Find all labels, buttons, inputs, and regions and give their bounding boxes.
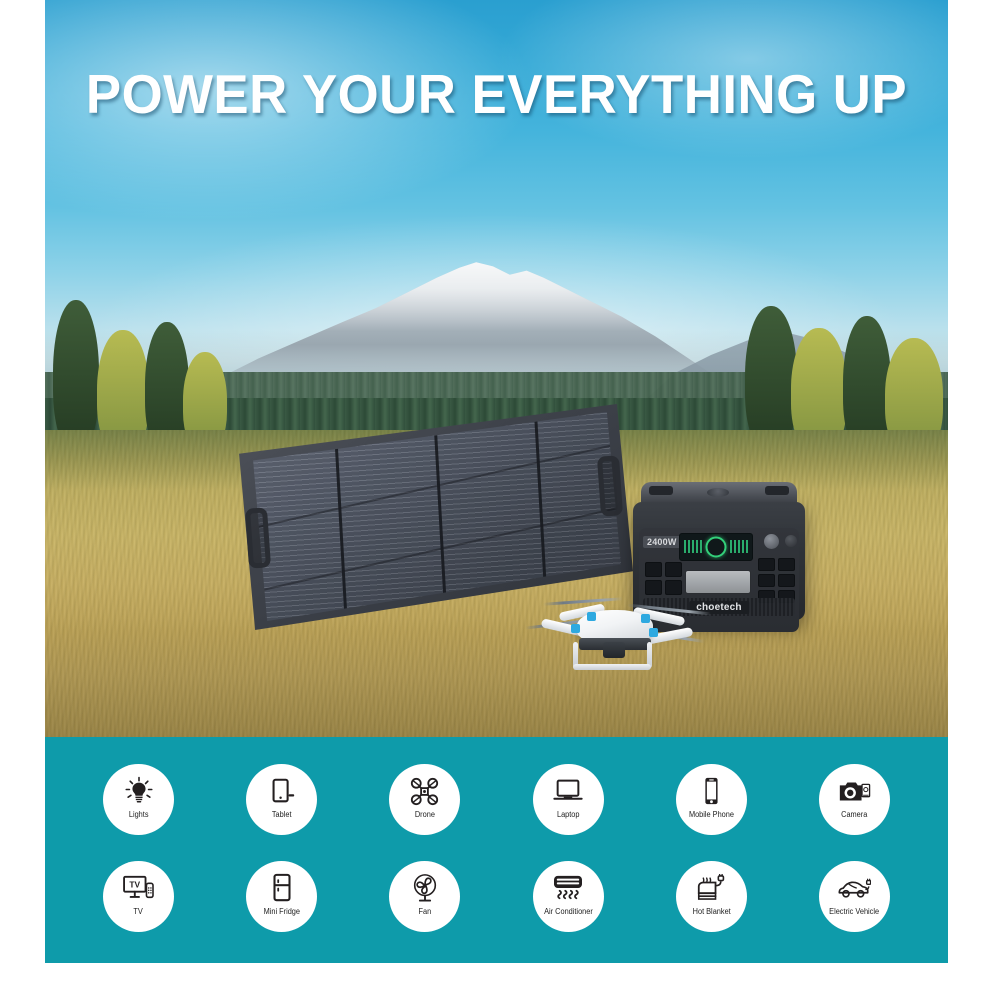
- station-mode-button[interactable]: [785, 535, 797, 547]
- svg-text:TV: TV: [129, 880, 140, 890]
- device-item-mini-fridge[interactable]: Mini Fridge: [246, 861, 317, 932]
- device-item-camera[interactable]: Camera: [819, 764, 890, 835]
- fan-icon: [410, 871, 440, 905]
- drone-icon: [409, 774, 440, 808]
- device-label: Camera: [841, 810, 867, 820]
- mobile-phone-icon: [697, 774, 725, 808]
- device-cell: Camera: [783, 751, 926, 848]
- lightbulb-icon: [124, 774, 154, 808]
- device-label: Air Conditioner: [544, 907, 593, 917]
- drone-propeller: [543, 597, 623, 606]
- device-label: TV: [134, 907, 143, 917]
- electric-vehicle-icon: [837, 871, 871, 905]
- device-item-tablet[interactable]: Tablet: [246, 764, 317, 835]
- solar-panel-handle-left: [245, 507, 271, 568]
- station-vent: [649, 486, 673, 495]
- device-cell: TV TV: [67, 848, 210, 945]
- tree: [53, 300, 99, 450]
- page-title: POWER YOUR EVERYTHING UP: [63, 62, 930, 126]
- lcd-output-readout: [730, 540, 748, 553]
- device-item-hot-blanket[interactable]: Hot Blanket: [676, 861, 747, 932]
- solar-panel-handle-right: [597, 455, 623, 516]
- device-label: Laptop: [557, 810, 580, 820]
- station-wireless-pad: [707, 488, 729, 497]
- device-label: Hot Blanket: [692, 907, 730, 917]
- device-icon-grid: Lights Tablet: [45, 737, 948, 963]
- device-item-tv[interactable]: TV TV: [103, 861, 174, 932]
- device-cell: Lights: [67, 751, 210, 848]
- device-label: Electric Vehicle: [829, 907, 879, 917]
- tablet-icon: [267, 774, 297, 808]
- device-label: Lights: [129, 810, 149, 820]
- device-label: Drone: [415, 810, 435, 820]
- device-cell: Hot Blanket: [640, 848, 783, 945]
- device-cell: Electric Vehicle: [783, 848, 926, 945]
- field-foreground-haze: [45, 617, 948, 737]
- station-port[interactable]: [665, 562, 682, 577]
- device-label: Fan: [419, 907, 432, 917]
- drone-accent-stripe: [571, 624, 580, 633]
- station-port[interactable]: [645, 562, 662, 577]
- solar-panel-fold-seam: [332, 395, 349, 639]
- device-item-electric-vehicle[interactable]: Electric Vehicle: [819, 861, 890, 932]
- lcd-battery-ring: [706, 537, 727, 558]
- camera-icon: [837, 774, 871, 808]
- device-cell: Fan: [353, 848, 496, 945]
- station-port[interactable]: [778, 574, 795, 587]
- drone-camera-gimbal: [603, 642, 625, 658]
- compatible-devices-band: Lights Tablet: [45, 737, 948, 963]
- fridge-icon: [269, 871, 295, 905]
- device-label: Mini Fridge: [264, 907, 300, 917]
- product-marketing-poster: 2400W: [0, 0, 1000, 1000]
- device-item-drone[interactable]: Drone: [389, 764, 460, 835]
- hot-blanket-icon: [695, 871, 727, 905]
- station-ac-port-cluster: [758, 558, 795, 603]
- drone-landing-skid: [573, 664, 651, 670]
- station-port[interactable]: [758, 558, 775, 571]
- air-conditioner-icon: [552, 871, 584, 905]
- device-cell: Mobile Phone: [640, 751, 783, 848]
- device-label: Tablet: [272, 810, 292, 820]
- device-item-laptop[interactable]: Laptop: [533, 764, 604, 835]
- quadcopter-drone: [515, 588, 715, 690]
- device-item-air-conditioner[interactable]: Air Conditioner: [533, 861, 604, 932]
- laptop-icon: [552, 774, 584, 808]
- wattage-badge: 2400W: [643, 536, 681, 548]
- device-item-fan[interactable]: Fan: [389, 861, 460, 932]
- tv-icon: TV: [122, 871, 156, 905]
- device-cell: Air Conditioner: [497, 848, 640, 945]
- device-cell: Laptop: [497, 751, 640, 848]
- lcd-input-readout: [684, 540, 702, 553]
- station-port[interactable]: [758, 574, 775, 587]
- drone-accent-stripe: [587, 612, 596, 621]
- station-power-button[interactable]: [764, 534, 779, 549]
- device-item-lights[interactable]: Lights: [103, 764, 174, 835]
- station-port[interactable]: [778, 558, 795, 571]
- station-vent: [765, 486, 789, 495]
- device-cell: Tablet: [210, 751, 353, 848]
- device-label: Mobile Phone: [689, 810, 734, 820]
- device-cell: Mini Fridge: [210, 848, 353, 945]
- device-cell: Drone: [353, 751, 496, 848]
- station-lcd-display: [679, 533, 753, 561]
- drone-accent-stripe: [649, 628, 658, 637]
- device-item-mobile-phone[interactable]: Mobile Phone: [676, 764, 747, 835]
- drone-accent-stripe: [641, 614, 650, 623]
